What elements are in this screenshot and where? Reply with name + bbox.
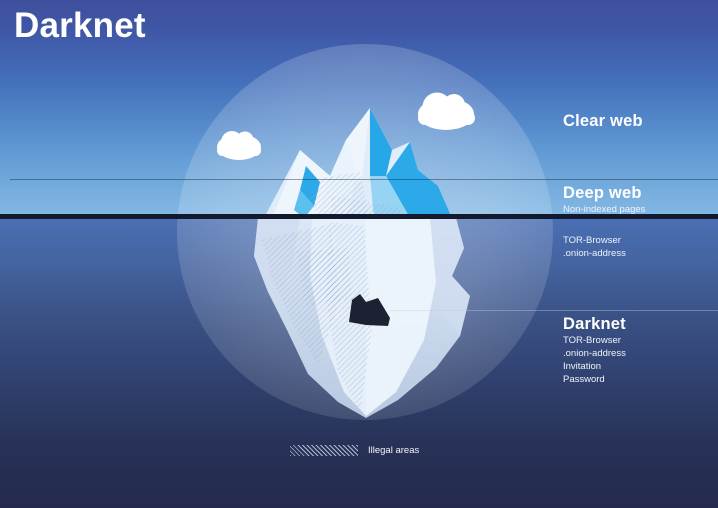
label-darknet-line1: TOR-Browser — [563, 334, 626, 347]
label-darknet: Darknet TOR-Browser .onion-address Invit… — [563, 314, 626, 386]
label-darknet-heading: Darknet — [563, 314, 626, 334]
legend-label: Illegal areas — [368, 445, 419, 456]
label-deep-web-requirements: TOR-Browser .onion-address — [563, 234, 626, 260]
label-deep-web: Deep web Non-indexed pages — [563, 183, 645, 216]
legend-hatch-swatch — [290, 445, 358, 456]
cloud-right — [418, 93, 475, 131]
cloud-left — [217, 131, 261, 160]
label-deep-web-heading: Deep web — [563, 183, 645, 203]
page-title: Darknet — [14, 6, 146, 46]
label-mid-line1: TOR-Browser — [563, 234, 626, 247]
divider-clear-deep — [10, 179, 718, 180]
label-mid-line2: .onion-address — [563, 247, 626, 260]
iceberg-below-water — [254, 218, 470, 418]
infographic-darknet-iceberg: Darknet Clear web Deep web Non-indexed p… — [0, 0, 718, 508]
divider-deep-darknet — [390, 310, 718, 311]
label-darknet-line2: .onion-address — [563, 347, 626, 360]
legend: Illegal areas — [290, 445, 419, 456]
label-darknet-line3: Invitation — [563, 360, 626, 373]
label-clear-web-heading: Clear web — [563, 111, 643, 131]
label-deep-web-sub: Non-indexed pages — [563, 203, 645, 216]
label-clear-web: Clear web — [563, 111, 643, 131]
label-darknet-line4: Password — [563, 373, 626, 386]
